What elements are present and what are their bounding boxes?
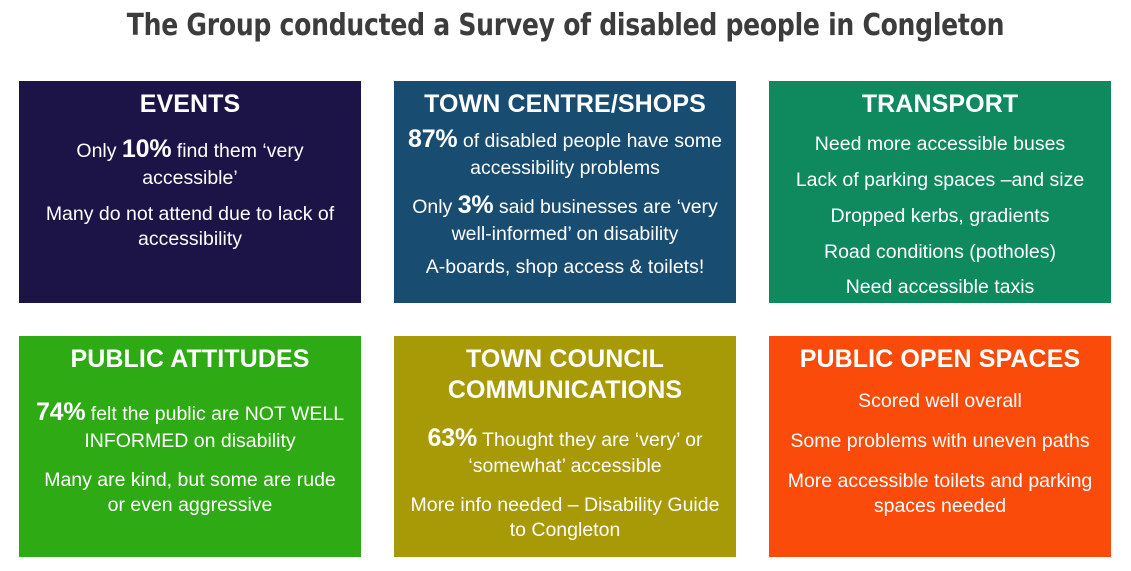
card-body: 87% of disabled people have some accessi…: [404, 122, 726, 297]
card-paragraph: Only 3% said businesses are ‘very well-i…: [404, 190, 726, 247]
infographic-slide: The Group conducted a Survey of disabled…: [0, 0, 1131, 571]
paragraph-text: A-boards, shop access & toilets!: [426, 256, 705, 278]
stat-percentage: 87%: [408, 125, 457, 153]
card-body: Scored well overallSome problems with un…: [779, 377, 1101, 551]
survey-card-openspaces[interactable]: PUBLIC OPEN SPACESScored well overallSom…: [769, 336, 1111, 557]
paragraph-prefix: Only: [76, 140, 122, 162]
card-paragraph: Need accessible taxis: [842, 275, 1039, 300]
survey-card-grid: EVENTSOnly 10% find them ‘very accessibl…: [19, 81, 1112, 557]
card-paragraph: 74% felt the public are NOT WELL INFORME…: [29, 397, 351, 454]
paragraph-text: More accessible toilets and parking spac…: [788, 470, 1093, 517]
card-title: PUBLIC ATTITUDES: [68, 344, 311, 375]
card-paragraph: 87% of disabled people have some accessi…: [404, 124, 726, 181]
paragraph-text: Need more accessible buses: [815, 133, 1065, 155]
stat-percentage: 3%: [458, 191, 494, 219]
paragraph-text: Need accessible taxis: [846, 276, 1035, 298]
card-title: EVENTS: [138, 89, 243, 120]
stat-percentage: 10%: [122, 135, 171, 163]
stat-percentage: 63%: [428, 424, 477, 452]
card-paragraph: 63% Thought they are ‘very’ or ‘somewhat…: [404, 423, 726, 480]
card-body: Need more accessible busesLack of parkin…: [779, 122, 1101, 300]
survey-card-council[interactable]: TOWN COUNCIL COMMUNICATIONS63% Thought t…: [394, 336, 736, 557]
card-body: 74% felt the public are NOT WELL INFORME…: [29, 377, 351, 551]
paragraph-text: Scored well overall: [858, 390, 1022, 412]
paragraph-text: Road conditions (potholes): [824, 241, 1056, 263]
card-body: Only 10% find them ‘very accessible’Many…: [29, 122, 351, 297]
card-paragraph: Dropped kerbs, gradients: [827, 204, 1054, 229]
stat-percentage: 74%: [36, 398, 85, 426]
card-paragraph: Many do not attend due to lack of access…: [29, 202, 351, 252]
paragraph-text: Thought they are ‘very’ or ‘somewhat’ ac…: [468, 429, 702, 478]
paragraph-text: Many are kind, but some are rude or even…: [44, 469, 336, 516]
paragraph-text: Lack of parking spaces –and size: [796, 169, 1084, 191]
paragraph-text: Dropped kerbs, gradients: [831, 205, 1050, 227]
card-title: PUBLIC OPEN SPACES: [798, 344, 1083, 375]
survey-card-towncentre[interactable]: TOWN CENTRE/SHOPS87% of disabled people …: [394, 81, 736, 303]
card-title: TRANSPORT: [860, 89, 1020, 120]
card-title: TOWN COUNCIL COMMUNICATIONS: [404, 344, 726, 407]
paragraph-text: felt the public are NOT WELL INFORMED on…: [84, 403, 344, 452]
card-paragraph: Road conditions (potholes): [820, 240, 1060, 265]
card-paragraph: Scored well overall: [854, 389, 1026, 414]
survey-card-events[interactable]: EVENTSOnly 10% find them ‘very accessibl…: [19, 81, 361, 303]
paragraph-text: Many do not attend due to lack of access…: [46, 203, 334, 250]
card-body: 63% Thought they are ‘very’ or ‘somewhat…: [404, 409, 726, 552]
paragraph-text: of disabled people have some accessibili…: [457, 130, 722, 179]
card-paragraph: Many are kind, but some are rude or even…: [29, 468, 351, 518]
paragraph-prefix: Only: [412, 196, 458, 218]
paragraph-text: Some problems with uneven paths: [790, 430, 1089, 452]
survey-card-attitudes[interactable]: PUBLIC ATTITUDES74% felt the public are …: [19, 336, 361, 557]
card-title: TOWN CENTRE/SHOPS: [422, 89, 708, 120]
card-paragraph: Need more accessible buses: [811, 132, 1069, 157]
card-paragraph: More accessible toilets and parking spac…: [779, 469, 1101, 519]
page-title: The Group conducted a Survey of disabled…: [40, 8, 1092, 43]
card-paragraph: A-boards, shop access & toilets!: [422, 255, 709, 280]
card-paragraph: More info needed – Disability Guide to C…: [404, 493, 726, 543]
card-paragraph: Only 10% find them ‘very accessible’: [29, 134, 351, 191]
survey-card-transport[interactable]: TRANSPORTNeed more accessible busesLack …: [769, 81, 1111, 303]
card-paragraph: Some problems with uneven paths: [786, 429, 1093, 454]
paragraph-text: More info needed – Disability Guide to C…: [411, 494, 720, 541]
card-paragraph: Lack of parking spaces –and size: [792, 168, 1088, 193]
